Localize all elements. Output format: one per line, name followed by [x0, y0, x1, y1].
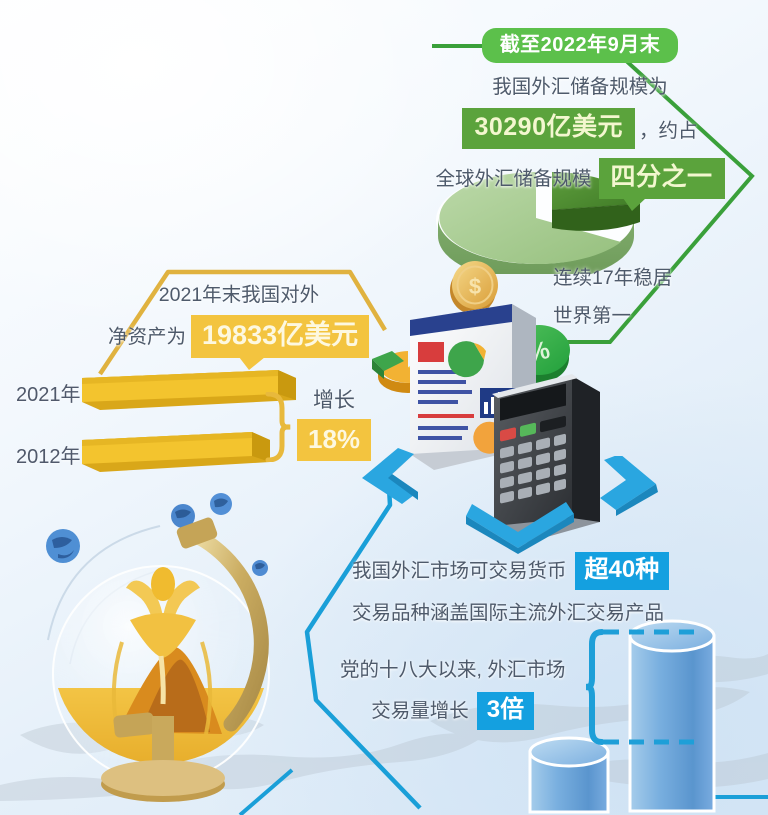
reserve-text-block: 截至2022年9月末 我国外汇储备规模为 30290亿美元，约占 全球外汇储备规…: [410, 28, 750, 199]
netassets-amount-badge: 19833亿美元: [191, 315, 369, 358]
mini-globe: [46, 529, 80, 563]
mini-globe: [252, 560, 268, 576]
rank-line-1: 连续17年稳居: [553, 263, 672, 293]
growth-brace-bottom: [586, 626, 706, 748]
volume-line-2-prefix: 交易量增长: [371, 696, 469, 726]
growth-badge: 18%: [297, 419, 371, 461]
golden-globe-icon: [18, 492, 308, 810]
mini-globe: [210, 493, 232, 515]
netassets-line-1: 2021年末我国对外: [108, 280, 370, 310]
volume-line-1: 党的十八大以来, 外汇市场: [340, 655, 565, 685]
rank-line-2: 世界第一: [553, 301, 672, 331]
reserve-line-3-prefix: 全球外汇储备规模: [435, 164, 591, 194]
svg-text:$: $: [469, 274, 481, 299]
reserve-line-2-suffix: ，约占: [639, 116, 698, 146]
market-line-2: 交易品种涵盖国际主流外汇交易产品: [352, 598, 669, 628]
growth-brace-left: [262, 392, 296, 462]
netassets-text-block: 2021年末我国对外 净资产为19833亿美元: [108, 280, 370, 358]
bar-label-2012: 2012年: [16, 440, 81, 469]
volume-badge: 3倍: [477, 692, 534, 730]
infographic-canvas: $ %: [0, 0, 768, 815]
growth-block: 增长 18%: [297, 386, 371, 461]
market-line-1-prefix: 我国外汇市场可交易货币: [352, 556, 567, 586]
reserve-pill-badge: 截至2022年9月末: [482, 28, 679, 63]
netassets-chart: 2021年 2012年: [10, 364, 300, 474]
market-currency-badge: 超40种: [575, 552, 670, 590]
bar-2012: [82, 426, 272, 474]
reserve-amount-badge: 30290亿美元: [462, 108, 635, 149]
reserve-line-1: 我国外汇储备规模为: [410, 72, 750, 102]
volume-text-block: 党的十八大以来, 外汇市场 交易量增长3倍: [340, 655, 565, 730]
netassets-line-2-prefix: 净资产为: [108, 322, 186, 352]
market-text-block: 我国外汇市场可交易货币超40种 交易品种涵盖国际主流外汇交易产品: [352, 552, 669, 628]
blue-connector-path: [307, 470, 420, 808]
chevron-right-3d-icon: [596, 456, 666, 518]
rank-text-block: 连续17年稳居 世界第一: [553, 263, 672, 331]
reserve-share-badge: 四分之一: [599, 158, 725, 199]
growth-label: 增长: [297, 386, 371, 416]
bar-label-2021: 2021年: [16, 378, 81, 407]
chevron-down-3d-icon: [466, 492, 576, 554]
